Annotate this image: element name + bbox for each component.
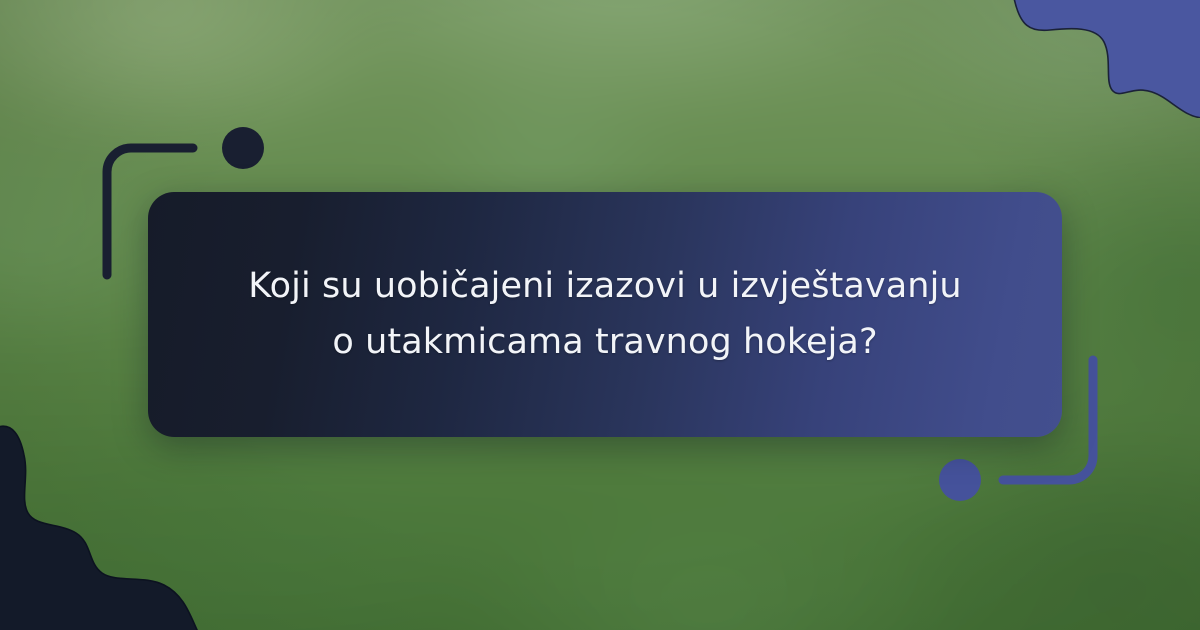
question-text: Koji su uobičajeni izazovi u izvještavan… xyxy=(245,259,965,370)
question-card-graphic: Koji su uobičajeni izazovi u izvještavan… xyxy=(0,0,1200,630)
question-card: Koji su uobičajeni izazovi u izvještavan… xyxy=(148,192,1062,437)
